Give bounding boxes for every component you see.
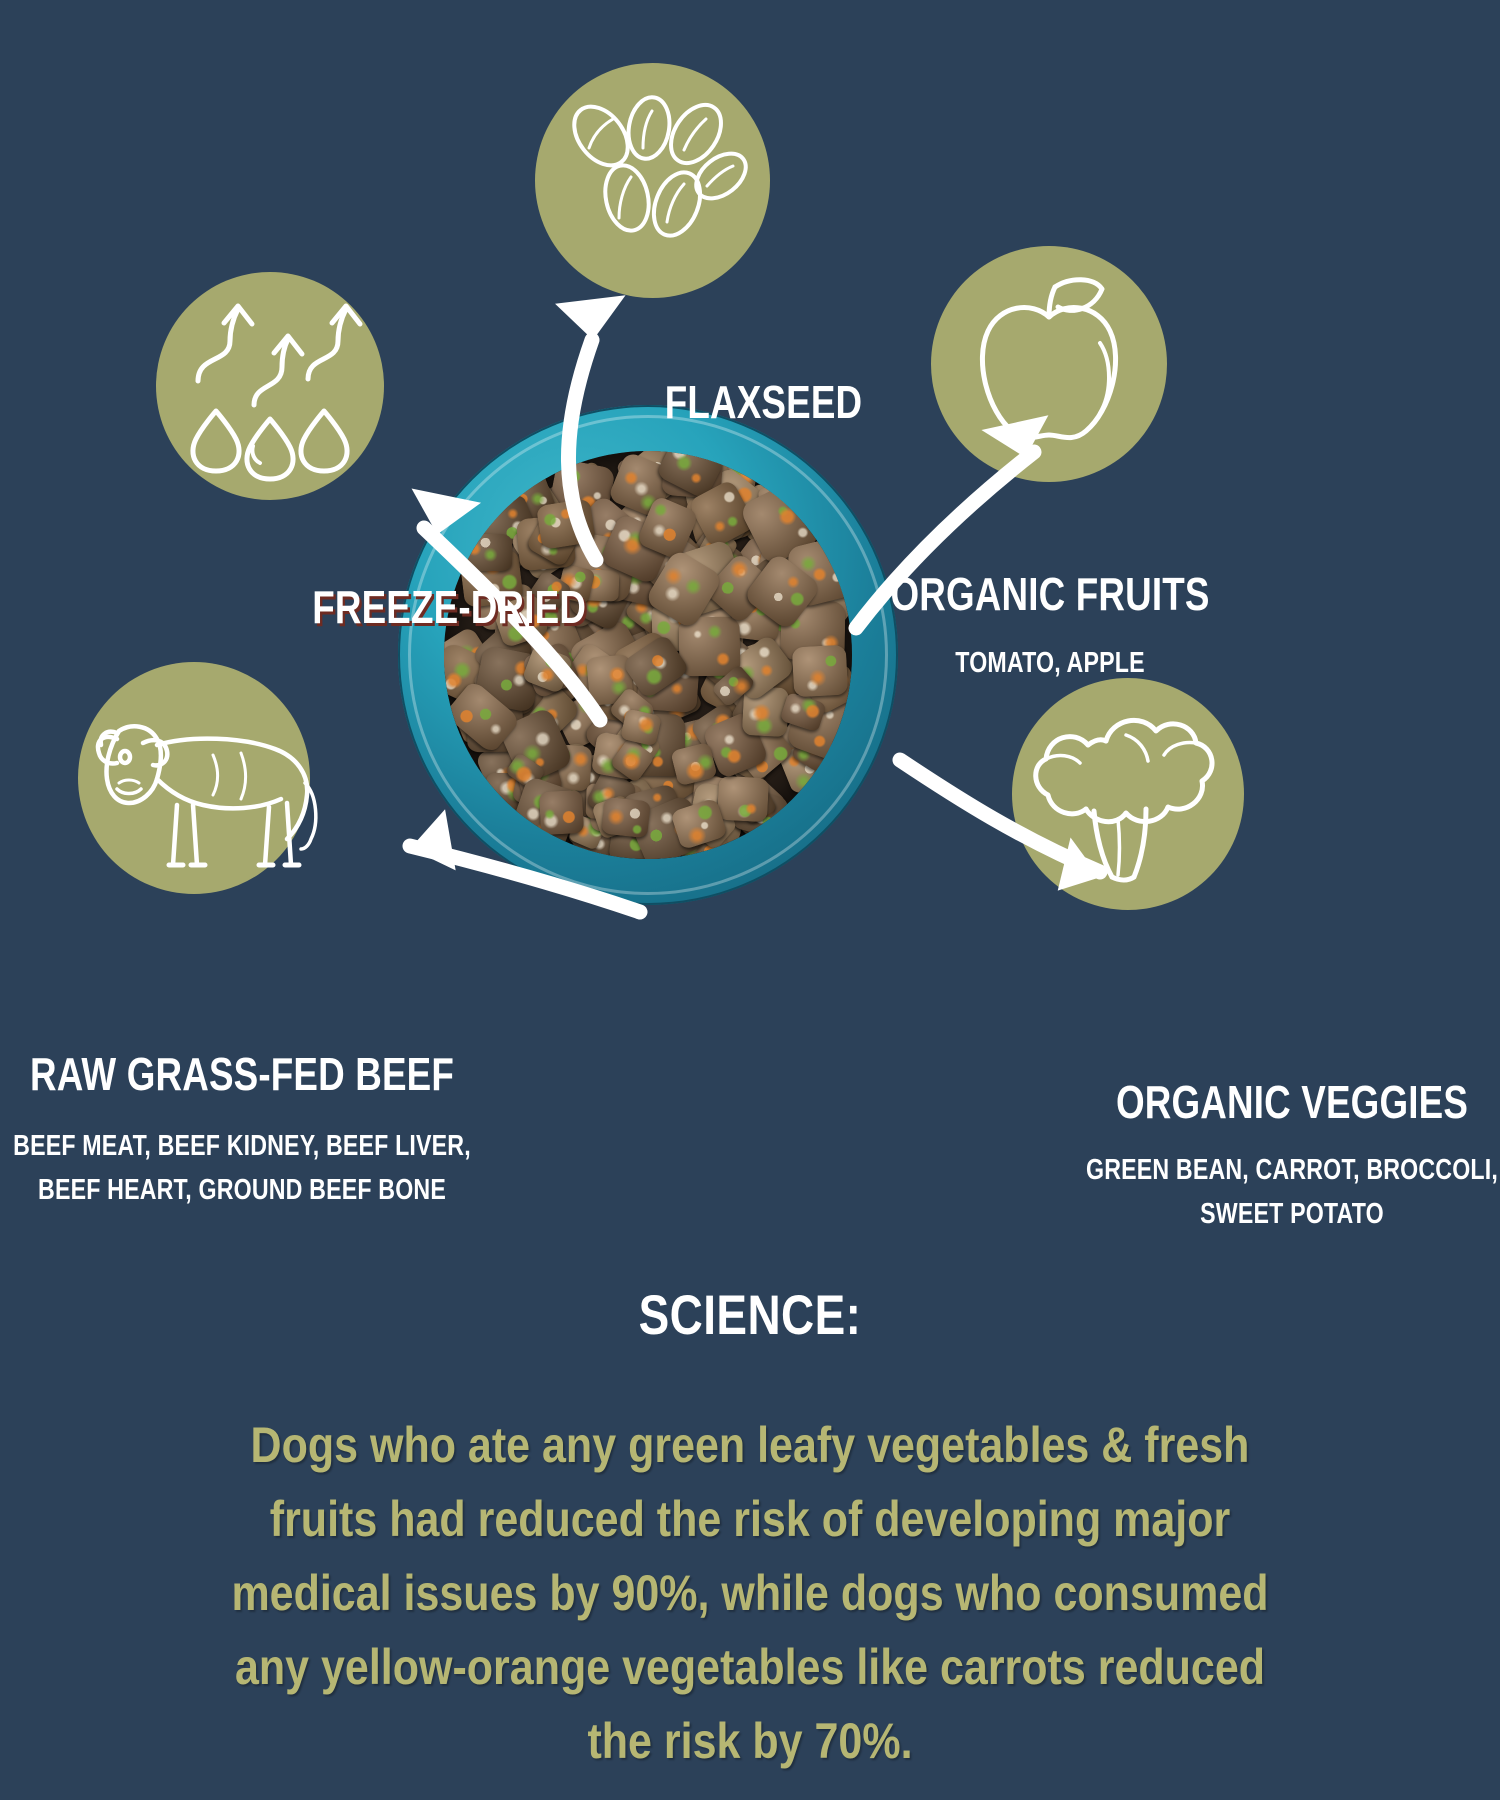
ingredient-circle-flaxseed[interactable] bbox=[535, 63, 770, 298]
dog-food-bowl bbox=[398, 405, 898, 905]
cow-icon bbox=[73, 683, 323, 873]
kibble-piece bbox=[538, 790, 583, 836]
ingredient-label-raw-grass-fed-beef: RAW GRASS-FED BEEF bbox=[30, 1050, 454, 1098]
ingredient-sublabel-organic-veggies-line1: GREEN BEAN, CARROT, BROCCOLI, bbox=[1086, 1152, 1498, 1188]
infographic-root: FLAXSEED FREEZE-DRIED ORGANIC FRUITS TOM… bbox=[0, 0, 1500, 1800]
kibble-piece bbox=[461, 534, 512, 571]
ingredient-circle-organic-veggies[interactable] bbox=[1012, 678, 1244, 910]
kibble-contents bbox=[444, 451, 852, 859]
ingredient-circle-raw-grass-fed-beef[interactable] bbox=[78, 662, 310, 894]
kibble-piece bbox=[601, 796, 651, 838]
flaxseed-icon bbox=[553, 88, 753, 273]
ingredient-sublabel-raw-beef-line1: BEEF MEAT, BEEF KIDNEY, BEEF LIVER, bbox=[13, 1128, 471, 1164]
ingredient-circle-freeze-dried[interactable] bbox=[156, 272, 384, 500]
apple-icon bbox=[954, 269, 1144, 459]
ingredient-label-organic-fruits: ORGANIC FRUITS bbox=[890, 570, 1209, 618]
arrowhead-flaxseed bbox=[555, 295, 630, 343]
ingredient-circle-organic-fruits[interactable] bbox=[931, 246, 1167, 482]
ingredient-sublabel-organic-fruits: TOMATO, APPLE bbox=[955, 645, 1144, 681]
kibble-piece bbox=[717, 776, 770, 823]
science-body-text: Dogs who ate any green leafy vegetables … bbox=[208, 1408, 1292, 1778]
water-droplets-evaporating-icon bbox=[172, 293, 368, 479]
ingredient-label-organic-veggies: ORGANIC VEGGIES bbox=[1116, 1078, 1468, 1126]
ingredient-sublabel-raw-beef-line2: BEEF HEART, GROUND BEEF BONE bbox=[38, 1172, 446, 1208]
kibble-piece bbox=[536, 498, 596, 550]
ingredient-sublabel-organic-veggies-line2: SWEET POTATO bbox=[1200, 1196, 1384, 1232]
broccoli-icon bbox=[1028, 699, 1228, 889]
science-heading: SCIENCE: bbox=[135, 1282, 1365, 1347]
ingredient-label-freeze-dried: FREEZE-DRIED bbox=[312, 583, 586, 631]
ingredient-label-flaxseed: FLAXSEED bbox=[665, 378, 863, 426]
kibble-piece bbox=[792, 644, 848, 696]
